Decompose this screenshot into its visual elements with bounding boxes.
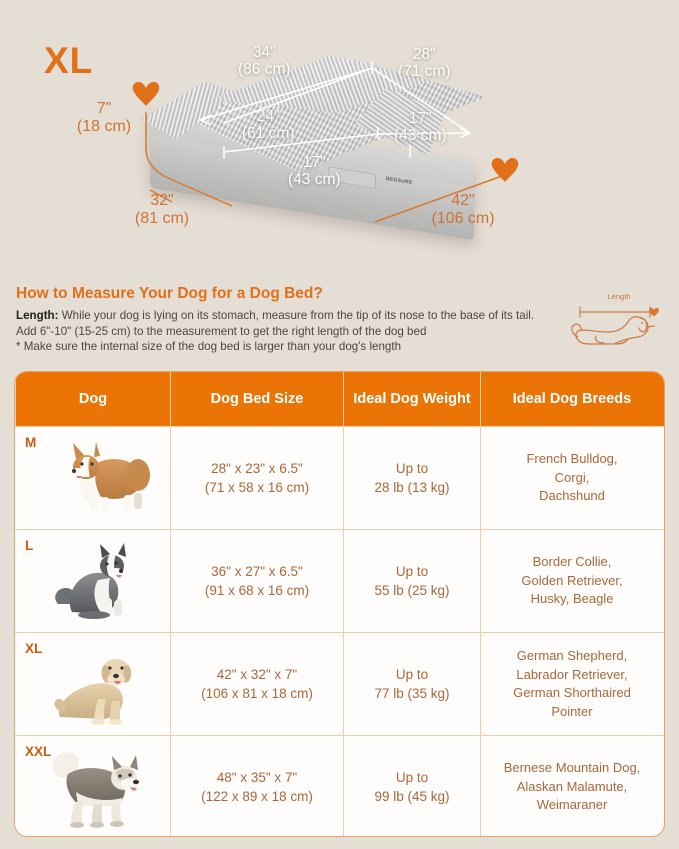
table-header-breeds: Ideal Dog Breeds (480, 372, 663, 426)
table-header-weight: Ideal Dog Weight (343, 372, 480, 426)
size-label-m: M (25, 435, 36, 450)
table-header-bed-size: Dog Bed Size (170, 372, 343, 426)
cell-bed-size-m: 28" x 23" x 6.5" (71 x 58 x 16 cm) (170, 427, 343, 529)
table-row: XXL (15, 735, 664, 837)
cell-dog-l: L (15, 530, 170, 632)
bed-size-cm-m: (71 x 58 x 16 cm) (205, 480, 309, 495)
cell-weight-m: Up to 28 lb (13 kg) (343, 427, 480, 529)
breeds-xl: German Shepherd, Labrador Retriever, Ger… (507, 647, 637, 721)
dog-length-diagram-icon: Length (568, 292, 670, 354)
size-label-xl: XL (25, 641, 42, 656)
dim-inner-right-depth: 28" (71 cm) (398, 46, 451, 80)
hero-product-section: XL BEDSURE (0, 0, 679, 268)
bed-size-cm-xxl: (122 x 89 x 18 cm) (201, 789, 313, 804)
dog-photo-border-collie (50, 540, 162, 622)
dim-height: 7" (18 cm) (62, 100, 146, 136)
measure-title: How to Measure Your Dog for a Dog Bed? (16, 285, 323, 303)
measure-note: * Make sure the internal size of the dog… (16, 340, 401, 353)
cell-breeds-l: Border Collie, Golden Retriever, Husky, … (480, 530, 663, 632)
breeds-m: French Bulldog, Corgi, Dachshund (520, 450, 623, 506)
bed-size-cm-xl: (106 x 81 x 18 cm) (201, 686, 313, 701)
cell-breeds-xl: German Shepherd, Labrador Retriever, Ger… (480, 633, 663, 735)
cell-weight-xxl: Up to 99 lb (45 kg) (343, 736, 480, 837)
cell-weight-xl: Up to 77 lb (35 kg) (343, 633, 480, 735)
dim-outer-depth: 32" (81 cm) (108, 192, 216, 228)
size-badge-xl: XL (44, 42, 93, 79)
dim-inner-mattress-depth: 17" (43 cm) (288, 154, 341, 188)
size-chart-table: Dog Dog Bed Size Ideal Dog Weight Ideal … (14, 371, 665, 837)
weight-prefix-xl: Up to (396, 667, 428, 682)
cell-dog-xl: XL (15, 633, 170, 735)
dim-outer-width: 42" (106 cm) (338, 192, 588, 228)
weight-prefix-m: Up to (396, 461, 428, 476)
measure-instructions: Length: While your dog is lying on its s… (16, 308, 556, 355)
table-header-dog: Dog (15, 372, 170, 426)
cell-dog-xxl: XXL (15, 736, 170, 837)
border-collie-illustration (50, 540, 162, 622)
weight-value-xl: 77 lb (35 kg) (374, 686, 449, 701)
size-label-xxl: XXL (25, 744, 51, 759)
cell-dog-m: M (15, 427, 170, 529)
size-label-l: L (25, 538, 33, 553)
bed-size-in-xxl: 48" x 35" x 7" (217, 770, 297, 785)
labrador-illustration (50, 643, 162, 725)
dog-photo-corgi (50, 437, 162, 519)
bed-size-in-xl: 42" x 32" x 7" (217, 667, 297, 682)
measure-length-label: Length: (16, 309, 59, 322)
weight-prefix-l: Up to (396, 564, 428, 579)
bed-size-cm-l: (91 x 68 x 16 cm) (205, 583, 309, 598)
cell-breeds-m: French Bulldog, Corgi, Dachshund (480, 427, 663, 529)
cell-breeds-xxl: Bernese Mountain Dog, Alaskan Malamute, … (480, 736, 663, 837)
dog-photo-labrador (50, 643, 162, 725)
weight-value-l: 55 lb (25 kg) (374, 583, 449, 598)
bed-size-in-l: 36" x 27" x 6.5" (211, 564, 303, 579)
weight-prefix-xxl: Up to (396, 770, 428, 785)
table-header-row: Dog Dog Bed Size Ideal Dog Weight Ideal … (15, 372, 664, 426)
dim-inner-top-width: 34" (86 cm) (238, 44, 291, 78)
cell-bed-size-l: 36" x 27" x 6.5" (91 x 68 x 16 cm) (170, 530, 343, 632)
measure-paragraph: While your dog is lying on its stomach, … (16, 309, 534, 338)
bed-size-in-m: 28" x 23" x 6.5" (211, 461, 303, 476)
malamute-illustration (50, 746, 162, 828)
cell-bed-size-xxl: 48" x 35" x 7" (122 x 89 x 18 cm) (170, 736, 343, 837)
dog-outline-icon (568, 292, 670, 354)
table-row: L (15, 529, 664, 632)
table-row: XL (15, 632, 664, 735)
corgi-illustration (50, 437, 162, 519)
dim-inner-bolster-width: 17" (43 cm) (394, 110, 447, 144)
breeds-xxl: Bernese Mountain Dog, Alaskan Malamute, … (498, 759, 647, 815)
cell-weight-l: Up to 55 lb (25 kg) (343, 530, 480, 632)
dog-photo-malamute (50, 746, 162, 828)
dog-diagram-length-label: Length (568, 292, 670, 301)
weight-value-m: 28 lb (13 kg) (374, 480, 449, 495)
dim-inner-mattress-width: 24" (61 cm) (242, 108, 295, 142)
weight-value-xxl: 99 lb (45 kg) (374, 789, 449, 804)
breeds-l: Border Collie, Golden Retriever, Husky, … (515, 553, 628, 609)
table-row: M (15, 426, 664, 529)
cell-bed-size-xl: 42" x 32" x 7" (106 x 81 x 18 cm) (170, 633, 343, 735)
